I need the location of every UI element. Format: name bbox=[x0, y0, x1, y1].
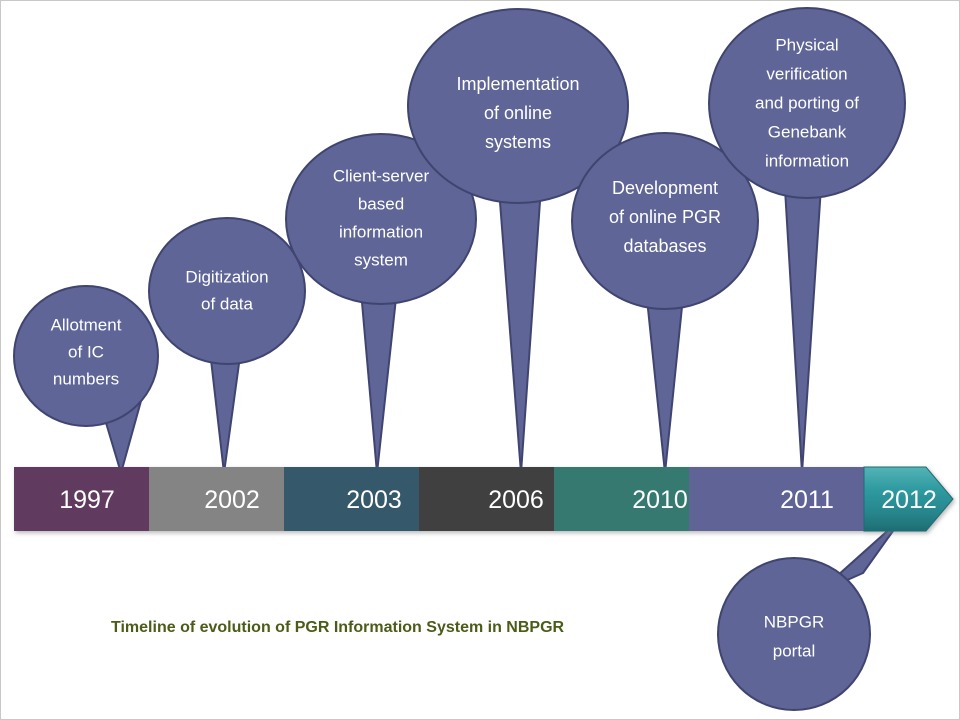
tail-implementation-of-online-systems bbox=[499, 187, 541, 473]
balloon-label-line: of online bbox=[484, 103, 552, 123]
timeline-segment-2011[interactable] bbox=[689, 467, 864, 531]
year-label-2002: 2002 bbox=[204, 486, 260, 514]
balloon-label-line: databases bbox=[623, 236, 706, 256]
balloon-label-line: Allotment bbox=[51, 315, 122, 334]
balloon-label-line: information bbox=[765, 151, 849, 170]
balloon-label-line: Physical bbox=[775, 35, 838, 54]
balloon-label-line: system bbox=[354, 250, 408, 269]
balloon-label-line: Implementation bbox=[456, 74, 579, 94]
balloon-label-line: Genebank bbox=[768, 122, 847, 141]
year-label-2010: 2010 bbox=[632, 486, 688, 514]
balloon-label-line: Digitization bbox=[185, 267, 268, 286]
balloon-label-line: Client-server bbox=[333, 166, 430, 185]
milestone-balloons: Allotment of IC numbers Digitization of … bbox=[14, 8, 905, 710]
balloon-label-line: of IC bbox=[68, 342, 104, 361]
year-label-2012: 2012 bbox=[881, 486, 937, 514]
balloon-label-line: based bbox=[358, 194, 404, 213]
tail-physical-verification-and-porting-of-genebank-information bbox=[785, 187, 821, 473]
balloon-label-line: and porting of bbox=[755, 93, 859, 112]
year-label-2006: 2006 bbox=[488, 486, 544, 514]
balloon-label-line: numbers bbox=[53, 369, 119, 388]
balloon-allotment-of-ic-numbers[interactable]: Allotment of IC numbers bbox=[14, 286, 158, 426]
balloon-nbpgr-portal[interactable]: NBPGR portal bbox=[718, 558, 870, 710]
balloon-label-line: systems bbox=[485, 132, 551, 152]
balloon-label-line: portal bbox=[773, 641, 816, 660]
balloon-label-line: verification bbox=[766, 64, 847, 83]
tail-client-server-based-information-system bbox=[361, 289, 397, 473]
balloon-physical-verification-and-porting-of-genebank-information[interactable]: Physical verification and porting of Gen… bbox=[709, 8, 905, 198]
year-label-2011: 2011 bbox=[780, 486, 834, 514]
tail-digitization-of-data bbox=[210, 349, 241, 473]
balloon-shape bbox=[149, 218, 305, 364]
balloon-label-line: information bbox=[339, 222, 423, 241]
balloon-shape bbox=[718, 558, 870, 710]
year-label-1997: 1997 bbox=[59, 486, 115, 514]
balloon-label-line: of online PGR bbox=[609, 207, 721, 227]
tail-development-of-online-pgr-databases bbox=[647, 297, 683, 473]
figure-caption: Timeline of evolution of PGR Information… bbox=[111, 619, 565, 636]
year-label-2003: 2003 bbox=[346, 486, 402, 514]
balloon-label-line: of data bbox=[201, 294, 254, 313]
timeline-diagram: 1997 2002 2003 2006 2010 2011 2012 Allot… bbox=[1, 1, 960, 720]
figure-canvas: 1997 2002 2003 2006 2010 2011 2012 Allot… bbox=[0, 0, 960, 720]
balloon-label-line: Development bbox=[612, 178, 718, 198]
balloon-digitization-of-data[interactable]: Digitization of data bbox=[149, 218, 305, 364]
balloon-label-line: NBPGR bbox=[764, 612, 824, 631]
